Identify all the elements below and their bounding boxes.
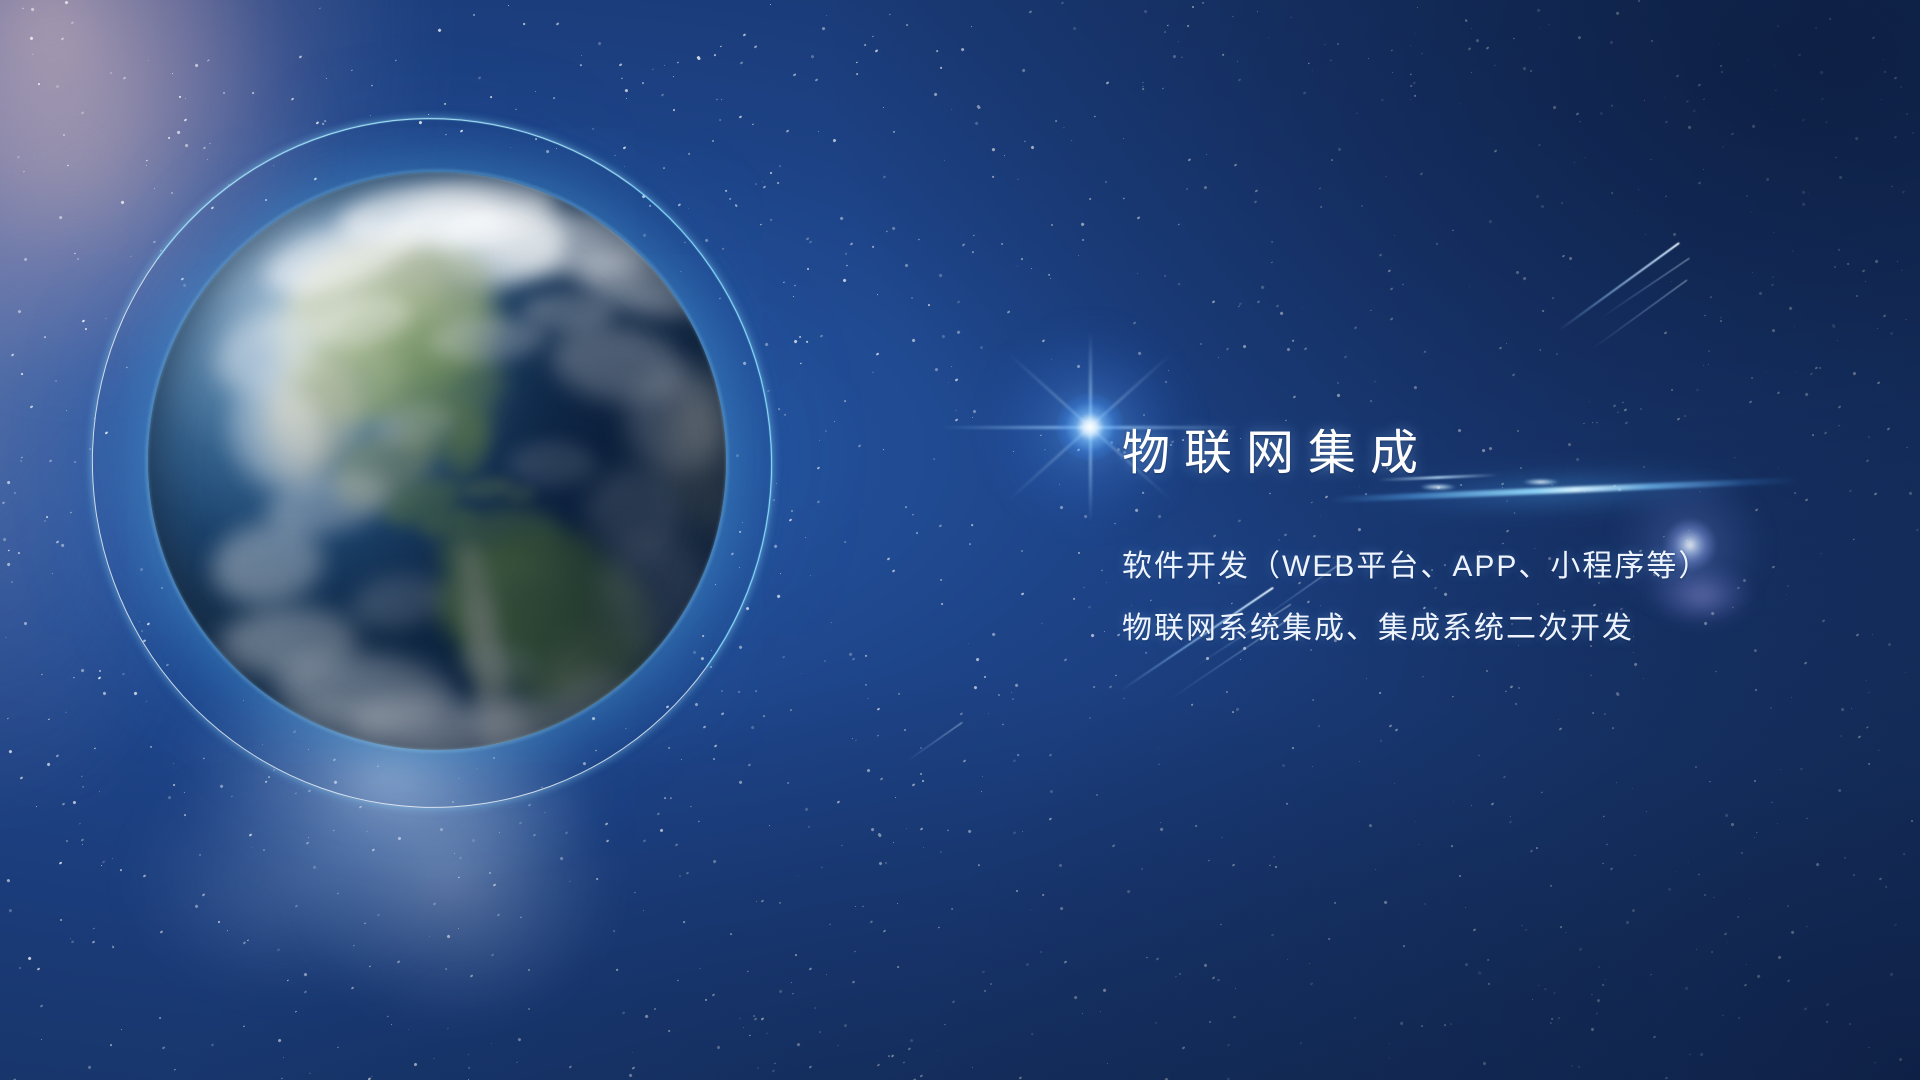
globe-rim-light — [146, 170, 728, 752]
banner-copy: 物联网集成 软件开发（WEB平台、APP、小程序等） 物联网系统集成、集成系统二… — [1122, 424, 1882, 660]
lens-flare-core — [1056, 393, 1124, 461]
banner-subtitle-1: 软件开发（WEB平台、APP、小程序等） — [1122, 536, 1882, 598]
hero-banner: 物联网集成 软件开发（WEB平台、APP、小程序等） 物联网系统集成、集成系统二… — [0, 0, 1920, 1080]
banner-subtitle-2: 物联网系统集成、集成系统二次开发 — [1122, 598, 1882, 660]
banner-title: 物联网集成 — [1122, 424, 1882, 484]
earth-globe — [148, 172, 726, 750]
banner-subtitles: 软件开发（WEB平台、APP、小程序等） 物联网系统集成、集成系统二次开发 — [1122, 536, 1882, 660]
